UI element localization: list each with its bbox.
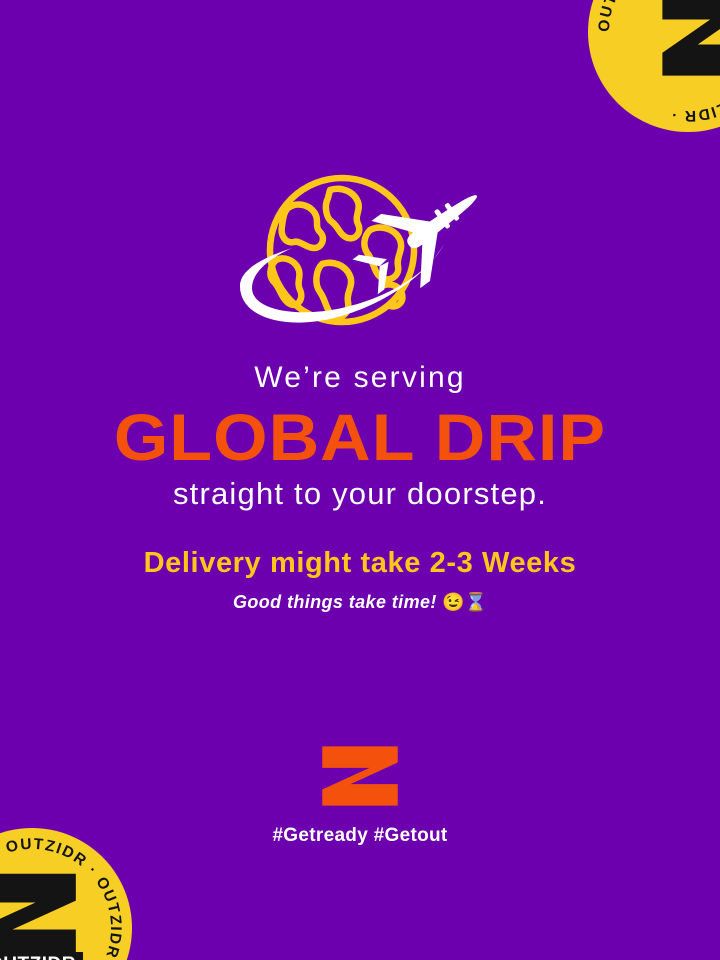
delivery-note: Good things take time! 😉⌛: [0, 593, 720, 613]
delivery-note-text: Good things take time!: [233, 592, 437, 612]
wink-hourglass-emoji: 😉⌛: [442, 592, 487, 612]
outzidr-badge-bottom-left: OUTZIDR · OUTZIDR · OUTZIDR · OUTZIDR · …: [0, 828, 132, 960]
outzidr-z-icon-bottom-left: [0, 868, 83, 960]
delivery-notice: Delivery might take 2-3 Weeks Good thing…: [0, 548, 720, 613]
outzidr-z-logo-icon: [319, 745, 401, 807]
promo-poster: OUTZIDR · OUTZIDR · OUTZIDR · OUTZIDR · …: [0, 0, 720, 960]
outzidr-z-icon-top-right: [652, 0, 720, 84]
globe-icon: [230, 168, 490, 344]
footer-brand: #Getready #Getout: [0, 745, 720, 847]
headline-block: We’re serving GLOBAL DRIP straight to yo…: [0, 362, 720, 510]
globe-and-plane-illustration: [0, 168, 720, 344]
outzidr-wordmark: OUTZIDR: [0, 952, 83, 960]
hashtags-text: #Getready #Getout: [0, 826, 720, 847]
subhead-text: straight to your doorstep.: [0, 478, 720, 511]
delivery-estimate-text: Delivery might take 2-3 Weeks: [0, 548, 720, 580]
page-title: GLOBAL DRIP: [0, 404, 720, 470]
outzidr-badge-top-right: OUTZIDR · OUTZIDR · OUTZIDR · OUTZIDR ·: [588, 0, 720, 132]
eyebrow-text: We’re serving: [0, 362, 720, 394]
